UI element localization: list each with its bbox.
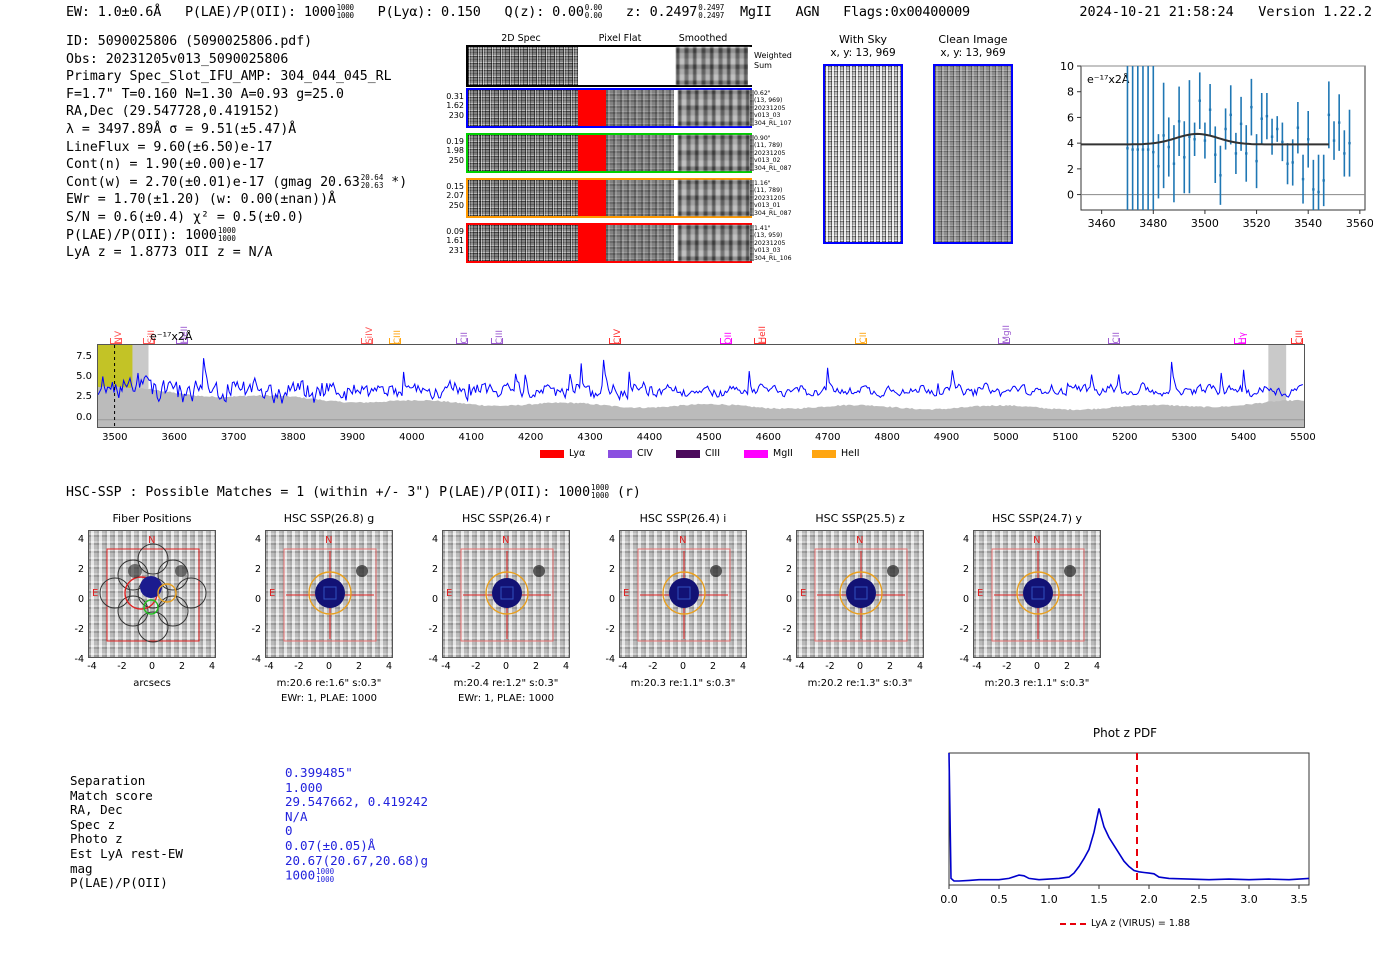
spectrum-legend: LyαCIVCIIIMgIIHeII <box>540 448 880 462</box>
match-row-key: mag <box>70 862 93 877</box>
phot-z-legend-label: LyA z (VIRUS) = 1.88 <box>1091 918 1190 929</box>
hsc-cutout-image[interactable] <box>88 530 216 658</box>
spec2d-summed-row <box>466 45 752 87</box>
two-d-spectrum-panel: 2D Spec Pixel Flat Smoothed Weighted Sum… <box>430 33 760 248</box>
header-ew: EW: 1.0±0.6Å <box>66 4 161 20</box>
full-spectrum-chart <box>97 344 1305 428</box>
hsc-cutout-ytick: 2 <box>597 564 615 575</box>
info-continuum-wide: Cont(w) = 2.70(±0.01)e-17 (gmag 20.6320.… <box>66 174 486 192</box>
spec2d-weighted-sum-label: Weighted Sum <box>754 51 818 71</box>
match-row-value: 20.67(20.67,20.68)g <box>285 854 428 869</box>
report-datetime: 2024-10-21 21:58:24 <box>1079 4 1233 20</box>
header-classification: AGN <box>795 4 819 20</box>
with-sky-subtitle: x, y: 13, 969 <box>818 47 908 59</box>
spectrum-xtick: 5000 <box>986 432 1026 443</box>
spec2d-fiber-left-labels: 0.191.98250 <box>430 137 464 165</box>
spectrum-xtick: 4300 <box>570 432 610 443</box>
hsc-cutout-xtick: 4 <box>379 661 399 672</box>
hsc-plae-fraction: 10001000 <box>591 484 609 500</box>
hsc-cutout-xtick: 0 <box>673 661 693 672</box>
legend-swatch <box>608 450 632 458</box>
hsc-cutout-ytick: 4 <box>66 534 84 545</box>
spectrum-legend-item: Lyα <box>540 448 585 459</box>
legend-label: CIII <box>705 448 720 459</box>
spec2d-fiber-row <box>466 88 752 128</box>
hsc-cutout-xtick: -4 <box>790 661 810 672</box>
spectrum-xtick: 3500 <box>95 432 135 443</box>
hsc-cutout-ytick: 4 <box>597 534 615 545</box>
hsc-cutout-ytick: 0 <box>597 594 615 605</box>
spec2d-fiber-left-labels: 0.091.61231 <box>430 227 464 255</box>
info-line-flux: LineFlux = 9.60(±6.50)e-17 <box>66 139 486 157</box>
spectrum-ytick: 2.5 <box>56 391 92 402</box>
legend-swatch <box>812 450 836 458</box>
hsc-cutout-ytick: 2 <box>951 564 969 575</box>
spec2d-fiber-left-labels: 0.152.07250 <box>430 182 464 210</box>
match-row-key: P(LAE)/P(OII) <box>70 876 168 891</box>
clean-image-title: Clean Image <box>925 33 1021 46</box>
hsc-cutout-xtick: -4 <box>259 661 279 672</box>
hsc-cutout-caption-primary: arcsecs <box>66 678 238 689</box>
hsc-cutout-ytick: 4 <box>243 534 261 545</box>
svg-text:2.0: 2.0 <box>1140 893 1158 906</box>
legend-swatch <box>540 450 564 458</box>
spectrum-xtick: 5400 <box>1224 432 1264 443</box>
hsc-cutout-ytick: 2 <box>66 564 84 575</box>
hsc-cutout-xtick: 2 <box>349 661 369 672</box>
hsc-cutout-caption-primary: m:20.3 re:1.1" s:0.3" <box>951 678 1123 689</box>
compass-east-label: E <box>977 588 983 599</box>
hsc-cutout-xtick: 0 <box>142 661 162 672</box>
svg-text:3520: 3520 <box>1243 217 1271 230</box>
spec2d-col-title-smoothed: Smoothed <box>658 33 748 44</box>
hsc-cutout-xtick: 4 <box>202 661 222 672</box>
info-id: ID: 5090025806 (5090025806.pdf) <box>66 33 486 51</box>
hsc-cutout-caption-secondary: EWr: 1, PLAE: 1000 <box>243 693 415 704</box>
header-plae-label: P(LAE)/P(OII): 1000 <box>185 4 336 20</box>
svg-text:0: 0 <box>1067 189 1074 202</box>
info-ra-dec: RA,Dec (29.547728,0.419152) <box>66 103 486 121</box>
hsc-cutout-xtick: -2 <box>643 661 663 672</box>
detection-info-block: ID: 5090025806 (5090025806.pdf) Obs: 202… <box>66 33 486 262</box>
svg-text:e⁻¹⁷x2Å: e⁻¹⁷x2Å <box>1087 73 1130 86</box>
phot-z-svg: 0.00.51.01.52.02.53.03.5 <box>935 745 1315 910</box>
spectrum-xtick: 4100 <box>451 432 491 443</box>
spectrum-xtick: 3600 <box>154 432 194 443</box>
info-wavelength-sigma: λ = 3497.89Å σ = 9.51(±5.47)Å <box>66 121 486 139</box>
hsc-cutout-xtick: -2 <box>112 661 132 672</box>
hsc-cutout-xtick: 2 <box>172 661 192 672</box>
hsc-cutout-xtick: -2 <box>466 661 486 672</box>
hsc-cutout-title: HSC SSP(24.7) y <box>951 512 1123 525</box>
spectrum-legend-item: MgII <box>744 448 793 459</box>
hsc-cutout-xtick: 2 <box>703 661 723 672</box>
header-plya: P(Lyα): 0.150 <box>378 4 481 20</box>
match-plae-fraction: 10001000 <box>316 868 334 884</box>
hsc-cutout-xtick: 0 <box>850 661 870 672</box>
spectrum-xtick: 4600 <box>748 432 788 443</box>
svg-text:1.5: 1.5 <box>1090 893 1108 906</box>
hsc-cutout-image[interactable] <box>265 530 393 658</box>
clean-image-img <box>933 64 1013 244</box>
svg-text:6: 6 <box>1067 111 1074 124</box>
legend-label: HeII <box>841 448 860 459</box>
with-sky-image <box>823 64 903 244</box>
hsc-cutout-xtick: -2 <box>820 661 840 672</box>
svg-text:3480: 3480 <box>1139 217 1167 230</box>
match-row-value: N/A <box>285 810 308 825</box>
svg-text:3560: 3560 <box>1346 217 1373 230</box>
spec2d-fiber-row <box>466 223 752 263</box>
svg-text:10: 10 <box>1060 60 1074 73</box>
hsc-cutout-xtick: -2 <box>997 661 1017 672</box>
hsc-cutout-ytick: -2 <box>420 624 438 635</box>
spectrum-xtick: 5100 <box>1045 432 1085 443</box>
spectrum-xtick: 5500 <box>1283 432 1323 443</box>
match-row-value: 0 <box>285 824 293 839</box>
legend-swatch <box>744 450 768 458</box>
header-z-fraction: 0.24970.2497 <box>698 4 724 20</box>
hsc-cutout-ytick: 4 <box>951 534 969 545</box>
clean-image-subtitle: x, y: 13, 969 <box>925 47 1021 59</box>
compass-east-label: E <box>269 588 275 599</box>
hsc-ssp-match-header: HSC-SSP : Possible Matches = 1 (within +… <box>66 484 641 500</box>
hsc-cutout-xtick: -4 <box>82 661 102 672</box>
hsc-cutout-ytick: -2 <box>66 624 84 635</box>
spectrum-xtick: 3800 <box>273 432 313 443</box>
spectrum-ytick: 5.0 <box>56 371 92 382</box>
match-row-key: Est LyA rest-EW <box>70 847 183 862</box>
hsc-cutout-caption-primary: m:20.4 re:1.2" s:0.3" <box>420 678 592 689</box>
svg-text:3540: 3540 <box>1294 217 1322 230</box>
header-plae-fraction: 10001000 <box>337 4 354 20</box>
info-snr-chi2: S/N = 0.6(±0.4) χ² = 0.5(±0.0) <box>66 209 486 227</box>
hsc-cutout-ytick: 4 <box>774 534 792 545</box>
compass-east-label: E <box>446 588 452 599</box>
spectrum-xtick: 4900 <box>927 432 967 443</box>
spectrum-legend-item: CIV <box>608 448 653 459</box>
full-spectrum-svg <box>98 345 1304 427</box>
svg-text:3460: 3460 <box>1088 217 1116 230</box>
hsc-cutout-ytick: 2 <box>243 564 261 575</box>
header-z-label: z: 0.2497 <box>626 4 697 20</box>
spec2d-fiber-right-info: 0.62"(13, 969)20231205v013_03304_RL_107 <box>754 90 818 127</box>
header-qz-label: Q(z): 0.00 <box>505 4 584 20</box>
spectrum-ytick: 7.5 <box>56 351 92 362</box>
match-row-key: Photo z <box>70 832 123 847</box>
spectrum-ytick: 0.0 <box>56 412 92 423</box>
svg-text:2.5: 2.5 <box>1190 893 1208 906</box>
info-redshifts: LyA z = 1.8773 OII z = N/A <box>66 244 486 262</box>
header-z-line: MgII <box>740 4 772 20</box>
hsc-cutout-xtick: 2 <box>526 661 546 672</box>
info-primary-spec-slot: Primary Spec_Slot_IFU_AMP: 304_044_045_R… <box>66 68 486 86</box>
hsc-cutout-title: HSC SSP(26.8) g <box>243 512 415 525</box>
spec2d-fiber-right-info: 1.16"(11, 789)20231205v013_01304_RL_087 <box>754 180 818 217</box>
spec2d-fiber-left-labels: 0.311.62230 <box>430 92 464 120</box>
match-row-value: 0.399485" <box>285 766 353 781</box>
compass-north-label: N <box>502 535 509 546</box>
match-row-value: 29.547662, 0.419242 <box>285 795 428 810</box>
hsc-cutout-xtick: 0 <box>1027 661 1047 672</box>
match-row-key: RA, Dec <box>70 803 123 818</box>
spectrum-xtick: 4000 <box>392 432 432 443</box>
line-fit-zoom-chart: 0246810346034803500352035403560e⁻¹⁷x2Å <box>1033 52 1373 247</box>
spectrum-legend-item: HeII <box>812 448 860 459</box>
report-version: Version 1.22.2 <box>1258 4 1372 20</box>
compass-north-label: N <box>679 535 686 546</box>
spectrum-xtick: 3700 <box>214 432 254 443</box>
spectrum-xtick: 4800 <box>867 432 907 443</box>
legend-swatch <box>676 450 700 458</box>
info-obs: Obs: 20231205v013_5090025806 <box>66 51 486 69</box>
hsc-cutout-xtick: 0 <box>319 661 339 672</box>
spec2d-fiber-right-info: 0.90"(11, 789)20231205v013_02304_RL_087 <box>754 135 818 172</box>
legend-label: CIV <box>637 448 653 459</box>
hsc-cutout-xtick: -4 <box>613 661 633 672</box>
hsc-cutout-caption-primary: m:20.3 re:1.1" s:0.3" <box>597 678 769 689</box>
match-row-value: 100010001000 <box>285 868 334 884</box>
spec2d-fiber-row <box>466 178 752 218</box>
hsc-cutout-image[interactable] <box>796 530 924 658</box>
hsc-cutout-xtick: 0 <box>496 661 516 672</box>
hsc-cutout-image[interactable] <box>442 530 570 658</box>
svg-text:8: 8 <box>1067 86 1074 99</box>
spectrum-xtick: 4500 <box>689 432 729 443</box>
hsc-cutout-title: HSC SSP(26.4) i <box>597 512 769 525</box>
hsc-cutout-ytick: 0 <box>420 594 438 605</box>
header-timestamp-version: 2024-10-21 21:58:24 Version 1.22.2 <box>1079 4 1372 20</box>
hsc-cutout-xtick: 2 <box>880 661 900 672</box>
spectrum-xtick: 5300 <box>1164 432 1204 443</box>
hsc-cutout-title: HSC SSP(26.4) r <box>420 512 592 525</box>
spec2d-fiber-right-info: 1.41"(13, 959)20231205v013_03304_RL_106 <box>754 225 818 262</box>
spec2d-col-title-2dspec: 2D Spec <box>466 33 576 44</box>
hsc-cutout-image[interactable] <box>619 530 747 658</box>
header-flags: Flags:0x00400009 <box>843 4 970 20</box>
hsc-cutout-xtick: 2 <box>1057 661 1077 672</box>
svg-text:3.5: 3.5 <box>1290 893 1308 906</box>
hsc-cutout-ytick: -2 <box>597 624 615 635</box>
spectrum-xtick: 5200 <box>1105 432 1145 443</box>
hsc-cutout-caption-secondary: EWr: 1, PLAE: 1000 <box>420 693 592 704</box>
match-row-value: 1.000 <box>285 781 323 796</box>
compass-east-label: E <box>623 588 629 599</box>
phot-z-pdf-chart: 0.00.51.01.52.02.53.03.5 <box>935 745 1315 910</box>
spectrum-line-flags: NVSiIIHeIISiIVCIIICIICIIICIVOIIHeIICIIMg… <box>97 300 1305 344</box>
phot-z-marker-swatch <box>1060 923 1086 925</box>
spectrum-flux-units: e⁻¹⁷x2Å <box>150 330 240 343</box>
hsc-cutout-ytick: -2 <box>951 624 969 635</box>
info-equivalent-width-rest: EWr = 1.70(±1.20) (w: 0.00(±nan))Å <box>66 191 486 209</box>
phot-z-pdf-title: Phot z PDF <box>935 726 1315 740</box>
svg-text:1.0: 1.0 <box>1040 893 1058 906</box>
info-seeing-params: F=1.7" T=0.160 N=1.30 A=0.93 g=25.0 <box>66 86 486 104</box>
info-continuum-narrow: Cont(n) = 1.90(±0.00)e-17 <box>66 156 486 174</box>
hsc-cutout-ytick: -2 <box>243 624 261 635</box>
hsc-cutout-xtick: 4 <box>910 661 930 672</box>
line-fit-svg: 0246810346034803500352035403560e⁻¹⁷x2Å <box>1033 52 1373 247</box>
hsc-cutout-ytick: 0 <box>243 594 261 605</box>
svg-text:3500: 3500 <box>1191 217 1219 230</box>
hsc-cutout-caption-primary: m:20.2 re:1.3" s:0.3" <box>774 678 946 689</box>
hsc-cutout-image[interactable] <box>973 530 1101 658</box>
info-plae-fraction: 10001000 <box>218 227 236 243</box>
hsc-cutout-xtick: -2 <box>289 661 309 672</box>
spectrum-xtick: 4400 <box>630 432 670 443</box>
hsc-cutout-xtick: 4 <box>556 661 576 672</box>
match-row-key: Match score <box>70 789 153 804</box>
legend-label: MgII <box>773 448 793 459</box>
svg-text:0.0: 0.0 <box>940 893 958 906</box>
info-gmag-fraction: 20.6420.63 <box>361 174 384 190</box>
hsc-cutout-xtick: -4 <box>967 661 987 672</box>
hsc-cutout-xtick: -4 <box>436 661 456 672</box>
hsc-cutout-xtick: 4 <box>733 661 753 672</box>
compass-east-label: E <box>92 588 98 599</box>
hsc-cutout-ytick: 0 <box>951 594 969 605</box>
phot-z-legend: LyA z (VIRUS) = 1.88 <box>935 918 1315 929</box>
svg-text:4: 4 <box>1067 137 1074 150</box>
spectrum-xtick: 3900 <box>332 432 372 443</box>
hsc-cutout-ytick: 2 <box>420 564 438 575</box>
legend-label: Lyα <box>569 448 585 459</box>
match-row-key: Spec z <box>70 818 115 833</box>
spectrum-legend-item: CIII <box>676 448 720 459</box>
with-sky-title: With Sky <box>818 33 908 46</box>
hsc-cutout-caption-primary: m:20.6 re:1.6" s:0.3" <box>243 678 415 689</box>
svg-text:3.0: 3.0 <box>1240 893 1258 906</box>
svg-text:0.5: 0.5 <box>990 893 1008 906</box>
compass-north-label: N <box>1033 535 1040 546</box>
svg-text:2: 2 <box>1067 163 1074 176</box>
hsc-cutout-ytick: 0 <box>774 594 792 605</box>
hsc-cutout-ytick: 2 <box>774 564 792 575</box>
hsc-cutout-title: HSC SSP(25.5) z <box>774 512 946 525</box>
info-plae-poii: P(LAE)/P(OII): 100010001000 <box>66 227 486 245</box>
compass-north-label: N <box>148 535 155 546</box>
hsc-cutout-xtick: 4 <box>1087 661 1107 672</box>
compass-east-label: E <box>800 588 806 599</box>
spec2d-col-title-pixelflat: Pixel Flat <box>570 33 670 44</box>
hsc-cutout-title: Fiber Positions <box>66 512 238 525</box>
hsc-cutout-ytick: -2 <box>774 624 792 635</box>
compass-north-label: N <box>856 535 863 546</box>
spec2d-fiber-row <box>466 133 752 173</box>
compass-north-label: N <box>325 535 332 546</box>
match-row-key: Separation <box>70 774 145 789</box>
hsc-cutout-ytick: 0 <box>66 594 84 605</box>
match-row-value: 0.07(±0.05)Å <box>285 839 375 854</box>
header-qz-fraction: 0.000.00 <box>585 4 602 20</box>
spectrum-xtick: 4700 <box>808 432 848 443</box>
spectrum-xtick: 4200 <box>511 432 551 443</box>
hsc-cutout-ytick: 4 <box>420 534 438 545</box>
